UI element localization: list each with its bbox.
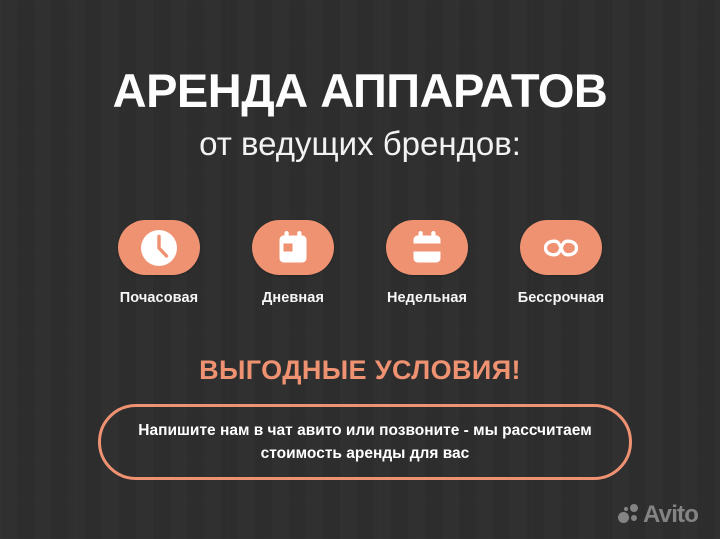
rental-option-label: Недельная <box>387 290 467 306</box>
rental-option-weekly[interactable]: Недельная <box>368 220 486 306</box>
calendar-day-icon <box>272 227 314 269</box>
cta-text: Напишите нам в чат авито или позвоните -… <box>116 419 613 466</box>
offer-headline: ВЫГОДНЫЕ УСЛОВИЯ! <box>0 355 720 386</box>
page-subtitle: от ведущих брендов: <box>0 126 720 163</box>
infinity-icon-badge <box>520 220 602 275</box>
calendar-week-icon <box>406 227 448 269</box>
cta-line-2: стоимость аренды для вас <box>261 445 470 462</box>
page-title: АРЕНДА АППАРАТОВ <box>0 66 720 116</box>
cta-box[interactable]: Напишите нам в чат авито или позвоните -… <box>98 404 632 480</box>
rental-option-daily[interactable]: Дневная <box>234 220 352 306</box>
rental-option-label: Бессрочная <box>518 290 604 306</box>
avito-brand-label: Avito <box>643 503 698 527</box>
calendar-week-icon-badge <box>386 220 468 275</box>
cta-line-1: Напишите нам в чат авито или позвоните -… <box>138 422 591 439</box>
rental-option-unlimited[interactable]: Бессрочная <box>502 220 620 306</box>
rental-options-row: Почасовая Дневная <box>100 220 620 306</box>
rental-option-label: Почасовая <box>120 290 198 306</box>
avito-dots-logo-icon <box>618 504 640 526</box>
clock-icon <box>138 227 180 269</box>
clock-icon-badge <box>118 220 200 275</box>
avito-watermark: Avito <box>618 503 698 527</box>
promo-poster: АРЕНДА АППАРАТОВ от ведущих брендов: Поч… <box>0 0 720 539</box>
infinity-icon <box>538 227 584 269</box>
rental-option-hourly[interactable]: Почасовая <box>100 220 218 306</box>
rental-option-label: Дневная <box>262 290 324 306</box>
calendar-day-icon-badge <box>252 220 334 275</box>
